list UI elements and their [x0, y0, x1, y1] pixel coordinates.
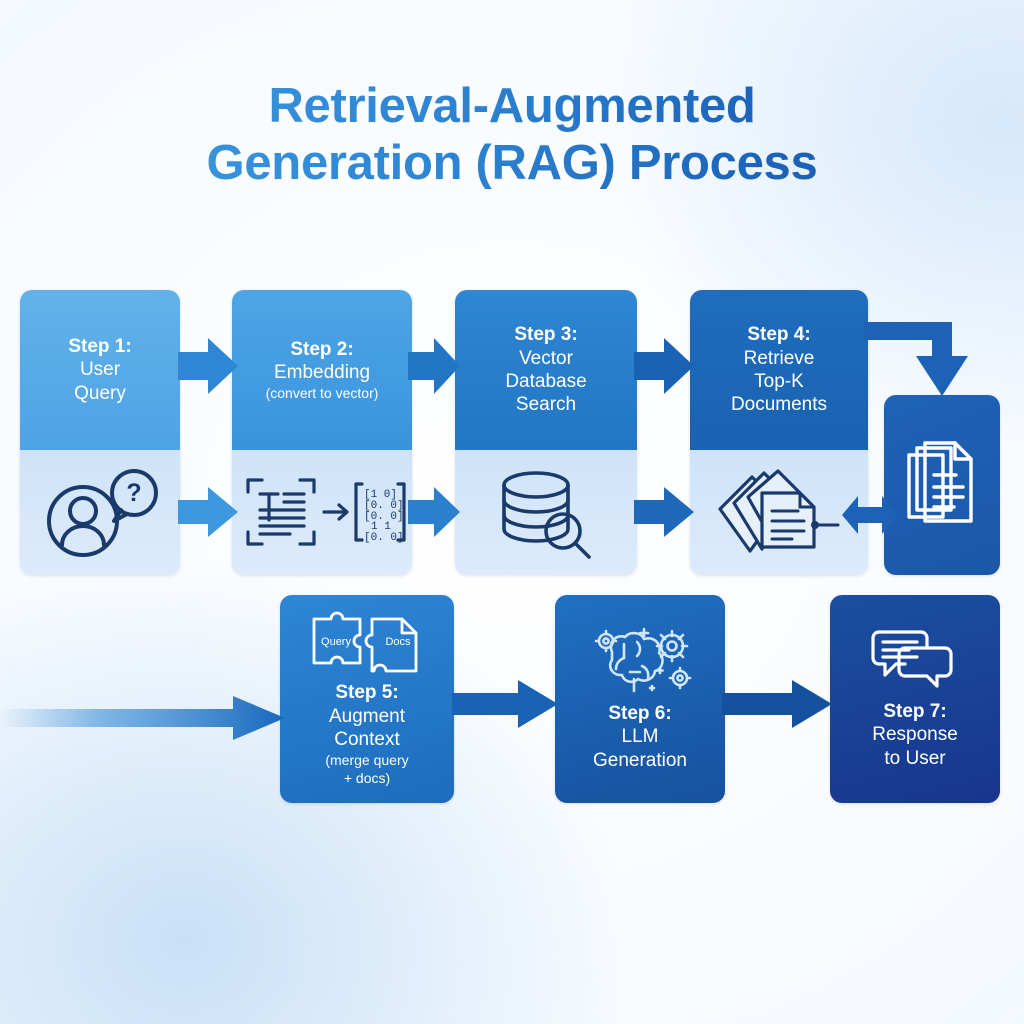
arrow-3-to-4-bottom: [634, 487, 694, 537]
step-2-header: Step 2: Embedding (convert to vector): [232, 290, 412, 450]
arrow-4-to-docs-elbow: [864, 322, 994, 412]
step-4-title-3: Documents: [731, 393, 827, 416]
step-3-number: Step 3:: [514, 323, 577, 346]
step-3-title: Vector: [519, 347, 573, 370]
step-2-box[interactable]: Step 2: Embedding (convert to vector): [232, 290, 412, 575]
vector-row-4: [0. 0]: [364, 532, 404, 544]
user-question-icon: ?: [35, 463, 165, 563]
step-7-box[interactable]: Step 7: Response to User: [830, 595, 1000, 803]
puzzle-label-query: Query: [321, 636, 351, 648]
arrow-3-to-4-top: [634, 338, 694, 394]
arrow-2-to-3-top: [408, 338, 460, 394]
step-4-title: Retrieve: [744, 347, 815, 370]
arrow-5-to-6: [452, 680, 558, 728]
step-5-note: (merge query: [325, 752, 408, 769]
step-1-icon-panel: ?: [20, 450, 180, 575]
arrow-1-to-2-top: [178, 338, 238, 394]
step-3-icon-panel: [455, 450, 637, 575]
document-stack-icon: [712, 463, 847, 563]
arrow-1-to-2-bottom: [178, 487, 238, 537]
step-4-header: Step 4: Retrieve Top-K Documents: [690, 290, 868, 450]
step-3-box[interactable]: Step 3: Vector Database Search: [455, 290, 637, 575]
step-4-title-2: Top-K: [754, 370, 804, 393]
title-line-2: Generation (RAG) Process: [0, 135, 1024, 192]
page-title: Retrieval-Augmented Generation (RAG) Pro…: [0, 78, 1024, 192]
arrow-feedback-to-5: [0, 694, 285, 742]
step-2-note: (convert to vector): [266, 385, 379, 402]
brain-gears-icon: [582, 624, 698, 694]
step-1-header: Step 1: User Query: [20, 290, 180, 450]
puzzle-merge-icon: Query Docs: [306, 609, 428, 673]
step-1-title-2: Query: [74, 382, 126, 405]
step-3-title-2: Database: [505, 370, 586, 393]
step-6-box[interactable]: Step 6: LLM Generation: [555, 595, 725, 803]
step-5-title-2: Context: [334, 728, 399, 751]
text-to-vector-icon: [1 0] [0. 0] [0. 0] 1 1 [0. 0]: [240, 470, 405, 555]
step-5-box[interactable]: Query Docs Step 5: Augment Context (merg…: [280, 595, 454, 803]
arrow-6-to-7: [722, 680, 832, 728]
title-line-1: Retrieval-Augmented: [0, 78, 1024, 135]
chat-bubbles-icon: [865, 626, 965, 692]
step-6-number: Step 6:: [608, 702, 671, 725]
step-1-number: Step 1:: [68, 335, 131, 358]
svg-text:?: ?: [126, 479, 141, 507]
step-6-title: LLM: [622, 725, 659, 748]
step-5-number: Step 5:: [335, 681, 398, 704]
step-7-title: Response: [872, 723, 958, 746]
step-3-title-3: Search: [516, 393, 576, 416]
step-3-header: Step 3: Vector Database Search: [455, 290, 637, 450]
step-4-number: Step 4:: [747, 323, 810, 346]
arrow-2-to-3-bottom: [408, 487, 460, 537]
step-1-box[interactable]: Step 1: User Query ?: [20, 290, 180, 575]
step-5-note-2: + docs): [344, 770, 390, 787]
arrow-docs-bidirectional: [842, 490, 898, 540]
step-6-title-2: Generation: [593, 749, 687, 772]
puzzle-label-docs: Docs: [385, 636, 411, 648]
step-7-number: Step 7:: [883, 700, 946, 723]
step-5-title: Augment: [329, 705, 405, 728]
diagram-canvas: Retrieval-Augmented Generation (RAG) Pro…: [0, 0, 1024, 1024]
step-2-number: Step 2:: [290, 338, 353, 361]
step-1-title: User: [80, 358, 120, 381]
documents-icon: [903, 437, 981, 533]
step-2-icon-panel: [1 0] [0. 0] [0. 0] 1 1 [0. 0]: [232, 450, 412, 575]
retrieved-documents-box[interactable]: [884, 395, 1000, 575]
step-2-title: Embedding: [274, 361, 370, 384]
step-7-title-2: to User: [884, 747, 945, 770]
database-search-icon: [491, 463, 601, 563]
